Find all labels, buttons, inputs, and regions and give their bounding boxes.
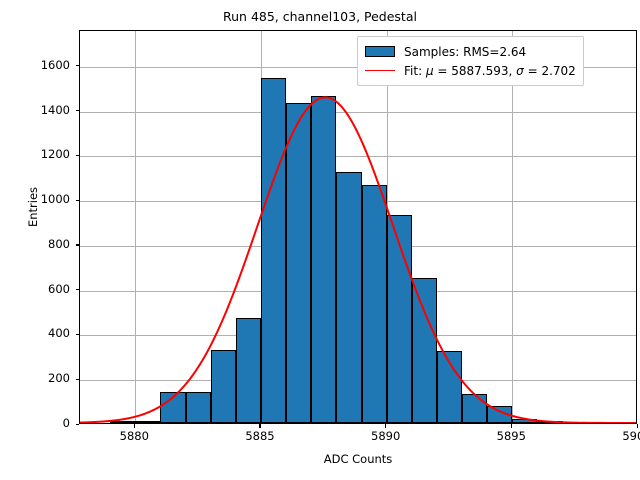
y-tick-mark bbox=[76, 244, 80, 245]
x-tick-label: 5900 bbox=[607, 429, 640, 443]
x-tick-mark bbox=[134, 424, 135, 428]
x-tick-mark bbox=[259, 424, 260, 428]
legend-label-fit: Fit: μ = 5887.593, σ = 2.702 bbox=[404, 64, 576, 78]
x-tick-label: 5880 bbox=[104, 429, 164, 443]
y-tick-mark bbox=[76, 334, 80, 335]
legend-fit-prefix: Fit: bbox=[404, 64, 426, 78]
plot-area bbox=[79, 30, 637, 424]
x-tick-mark bbox=[385, 424, 386, 428]
gridline-horizontal bbox=[80, 425, 636, 426]
histogram-figure: Run 485, channel103, Pedestal 0200400600… bbox=[0, 0, 640, 480]
y-tick-label: 0 bbox=[22, 416, 70, 430]
y-axis-label: Entries bbox=[26, 147, 40, 267]
legend-item-fit: Fit: μ = 5887.593, σ = 2.702 bbox=[365, 61, 576, 80]
chart-title: Run 485, channel103, Pedestal bbox=[0, 9, 640, 24]
y-tick-label: 1600 bbox=[22, 58, 70, 72]
x-tick-label: 5885 bbox=[230, 429, 290, 443]
y-tick-mark bbox=[76, 289, 80, 290]
y-tick-label: 1400 bbox=[22, 103, 70, 117]
legend-patch-icon bbox=[365, 46, 395, 57]
gaussian-fit-curve bbox=[80, 31, 636, 423]
y-tick-mark bbox=[76, 65, 80, 66]
x-tick-label: 5890 bbox=[356, 429, 416, 443]
legend-fit-sigma-value: = 2.702 bbox=[524, 64, 576, 78]
x-tick-mark bbox=[511, 424, 512, 428]
legend-fit-sigma-symbol: σ bbox=[516, 64, 524, 78]
x-tick-mark bbox=[637, 424, 638, 428]
y-tick-label: 400 bbox=[22, 326, 70, 340]
y-tick-mark bbox=[76, 379, 80, 380]
y-tick-mark bbox=[76, 200, 80, 201]
y-tick-mark bbox=[76, 155, 80, 156]
legend-item-samples: Samples: RMS=2.64 bbox=[365, 42, 576, 61]
legend-fit-mu-symbol: μ bbox=[426, 64, 434, 78]
x-axis-label: ADC Counts bbox=[79, 452, 637, 466]
y-tick-mark bbox=[76, 110, 80, 111]
y-tick-label: 600 bbox=[22, 282, 70, 296]
x-tick-label: 5895 bbox=[481, 429, 541, 443]
legend-fit-mu-value: = 5887.593, bbox=[434, 64, 517, 78]
y-tick-mark bbox=[76, 424, 80, 425]
y-tick-label: 200 bbox=[22, 371, 70, 385]
legend: Samples: RMS=2.64 Fit: μ = 5887.593, σ =… bbox=[357, 36, 584, 86]
legend-line-icon bbox=[365, 70, 395, 71]
legend-label-samples: Samples: RMS=2.64 bbox=[404, 45, 526, 59]
